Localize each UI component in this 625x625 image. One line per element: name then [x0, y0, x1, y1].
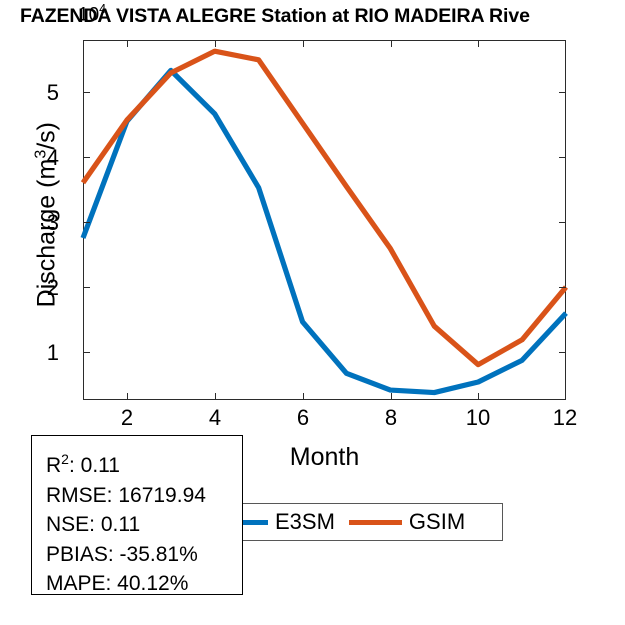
- x-ticklabel-12: 12: [543, 405, 587, 431]
- y-axis-label-text: Discharge (m: [33, 159, 61, 308]
- x-tick-top-2: [127, 40, 128, 47]
- stat-r-squared-label: R: [46, 454, 61, 477]
- y-tick-4: [83, 157, 90, 158]
- statistics-box: R2: 0.11 RMSE: 16719.94 NSE: 0.11 PBIAS:…: [31, 435, 243, 595]
- exponent-base: 10: [78, 4, 99, 25]
- plot-canvas: [83, 40, 566, 400]
- x-ticklabel-2: 2: [105, 405, 149, 431]
- legend-entry-gsim[interactable]: GSIM: [349, 504, 465, 540]
- stat-nse: NSE: 0.11: [46, 510, 242, 540]
- y-tick-right-2: [559, 287, 566, 288]
- x-tick-top-12: [565, 40, 566, 47]
- y-tick-right-5: [559, 92, 566, 93]
- x-ticklabel-8: 8: [369, 405, 413, 431]
- y-axis-label-tail: /s): [33, 122, 61, 150]
- x-tick-6: [303, 393, 304, 400]
- x-tick-top-8: [391, 40, 392, 47]
- x-tick-2: [127, 393, 128, 400]
- legend-label-e3sm: E3SM: [275, 509, 335, 535]
- series-line-gsim: [83, 51, 566, 364]
- x-ticklabel-4: 4: [193, 405, 237, 431]
- y-tick-2: [83, 287, 90, 288]
- y-axis-label-exponent: 3: [32, 150, 49, 159]
- y-tick-1: [83, 352, 90, 353]
- legend[interactable]: E3SM GSIM: [222, 503, 503, 541]
- series-line-e3sm: [83, 70, 566, 392]
- y-tick-right-3: [559, 222, 566, 223]
- x-tick-12: [565, 393, 566, 400]
- y-tick-5: [83, 92, 90, 93]
- stat-r-squared-exponent: 2: [61, 451, 69, 467]
- stat-r-squared: R2: 0.11: [46, 445, 242, 481]
- x-tick-8: [391, 393, 392, 400]
- y-tick-right-1: [559, 352, 566, 353]
- y-tick-3: [83, 222, 90, 223]
- x-ticklabel-6: 6: [281, 405, 325, 431]
- x-tick-top-10: [478, 40, 479, 47]
- stat-r-squared-value: : 0.11: [69, 454, 120, 477]
- x-ticklabel-10: 10: [456, 405, 500, 431]
- exponent-power: 4: [99, 2, 106, 16]
- x-tick-10: [478, 393, 479, 400]
- x-tick-top-6: [303, 40, 304, 47]
- y-tick-right-4: [559, 157, 566, 158]
- x-tick-top-4: [215, 40, 216, 47]
- stat-mape: MAPE: 40.12%: [46, 569, 242, 599]
- page-title: FAZENDA VISTA ALEGRE Station at RIO MADE…: [20, 5, 625, 28]
- y-axis-label: Discharge (m3/s): [32, 50, 61, 380]
- stat-rmse: RMSE: 16719.94: [46, 481, 242, 511]
- legend-swatch-gsim: [349, 520, 402, 525]
- y-axis-exponent-label: 104: [78, 2, 106, 26]
- chart-figure: FAZENDA VISTA ALEGRE Station at RIO MADE…: [0, 0, 625, 625]
- legend-label-gsim: GSIM: [409, 509, 465, 535]
- x-tick-4: [215, 393, 216, 400]
- stat-pbias: PBIAS: -35.81%: [46, 540, 242, 570]
